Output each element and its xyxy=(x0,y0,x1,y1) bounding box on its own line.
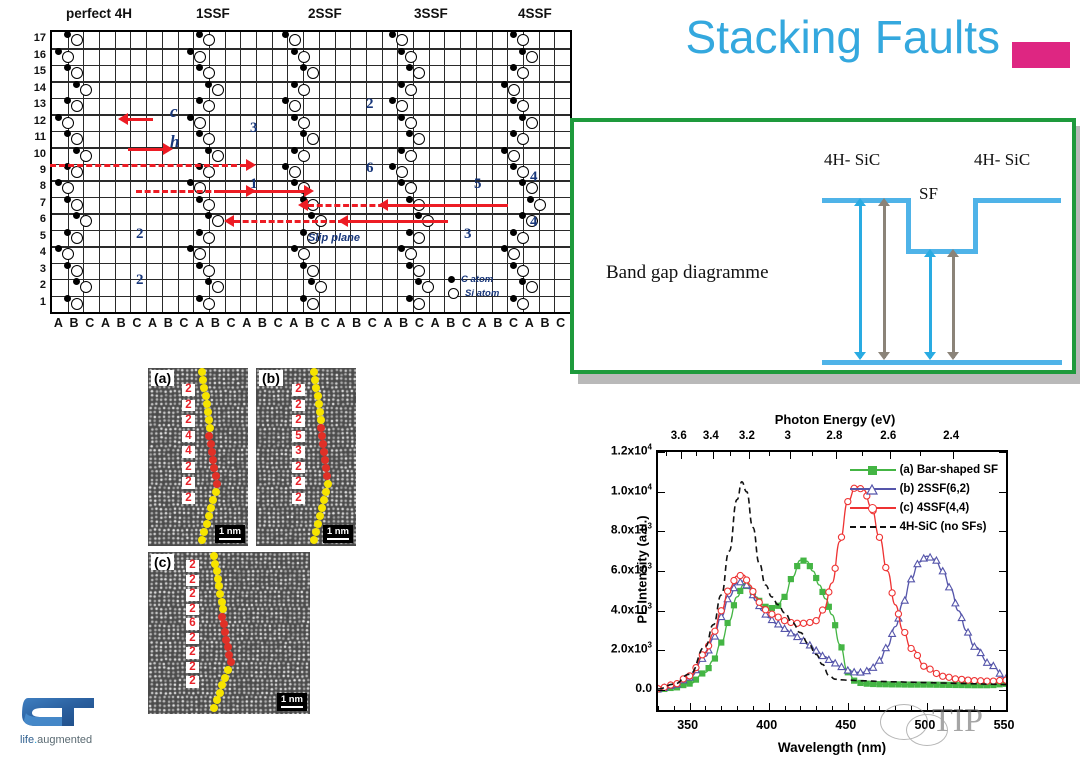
conduction-band-right xyxy=(973,198,1061,203)
lattice-row-number: 4 xyxy=(40,246,46,258)
lattice-gridline-vertical xyxy=(319,32,320,312)
chart-data-point xyxy=(718,608,724,614)
chart-data-point xyxy=(997,677,1003,683)
tem-stacking-number: 2 xyxy=(292,462,305,474)
lattice-c-atom xyxy=(196,229,203,236)
slip-plane-label: Slip plane xyxy=(308,232,360,244)
chart-x-tick-label: 400 xyxy=(756,718,777,732)
tem-stacking-number: 2 xyxy=(292,493,305,505)
lattice-stacking-label: A xyxy=(242,316,251,330)
chart-data-point xyxy=(800,620,806,626)
chart-x-minor-tick xyxy=(674,706,675,710)
chart-y-right-tick xyxy=(999,531,1006,532)
lattice-gridline-vertical xyxy=(240,32,241,312)
lattice-gridline-vertical xyxy=(460,32,461,312)
chart-y-tick xyxy=(658,690,665,691)
lattice-column-header: perfect 4H xyxy=(66,6,132,21)
lattice-segment-number: 3 xyxy=(250,120,258,137)
tem-stacking-number: 2 xyxy=(186,589,199,601)
chart-y-tick xyxy=(658,531,665,532)
lattice-si-atom xyxy=(212,215,224,227)
lattice-stacking-label: B xyxy=(211,316,220,330)
lattice-c-atom xyxy=(205,147,212,154)
lattice-row-number: 8 xyxy=(40,180,46,192)
chart-y-tick xyxy=(658,492,665,493)
chart-data-point xyxy=(781,594,787,600)
chart-data-point xyxy=(712,655,718,661)
lattice-c-atom xyxy=(519,278,526,285)
lattice-column-headers: perfect 4H1SSF2SSF3SSF4SSF xyxy=(18,6,570,28)
atom-type-legend: C atomSi atom xyxy=(448,272,499,300)
lattice-si-atom xyxy=(307,298,319,310)
chart-legend-item[interactable]: (a) Bar-shaped SF xyxy=(850,460,998,479)
lattice-c-atom xyxy=(510,130,517,137)
lattice-c-atom xyxy=(510,163,517,170)
tem-atom-normal xyxy=(314,392,322,400)
chart-data-point xyxy=(718,639,724,645)
lattice-gridline-vertical xyxy=(99,32,100,312)
lattice-si-atom xyxy=(194,248,206,260)
lattice-si-atom xyxy=(71,166,83,178)
chart-top-minor-tick xyxy=(890,452,891,456)
tem-atom-normal xyxy=(212,488,220,496)
chart-top-minor-tick xyxy=(713,452,714,456)
lattice-si-atom xyxy=(71,298,83,310)
tem-stacking-number: 2 xyxy=(186,676,199,688)
tem-panel-b-atom-chain xyxy=(308,368,334,546)
tem-atom-normal xyxy=(216,590,224,598)
chart-data-point xyxy=(762,607,768,613)
chart-data-point xyxy=(687,673,693,679)
tem-atom-normal xyxy=(312,528,320,536)
lattice-segment-number: 5 xyxy=(474,176,482,193)
lattice-stacking-label: B xyxy=(305,316,314,330)
lattice-gridline-horizontal xyxy=(52,131,570,132)
chart-top-minor-tick xyxy=(862,452,863,456)
lattice-si-atom xyxy=(62,117,74,129)
lattice-c-atom xyxy=(64,31,71,38)
lattice-si-atom xyxy=(71,67,83,79)
lattice-c-atom xyxy=(510,262,517,269)
tem-atom-normal xyxy=(213,567,221,575)
chart-x-minor-tick xyxy=(737,706,738,710)
chart-top-minor-tick xyxy=(681,452,682,456)
lattice-si-atom xyxy=(203,133,215,145)
tem-atom-normal xyxy=(316,408,324,416)
lattice-gridline-vertical xyxy=(429,32,430,312)
lattice-stacking-label: C xyxy=(556,316,565,330)
lattice-si-atom xyxy=(80,150,92,162)
chart-legend: (a) Bar-shaped SF(b) 2SSF(6,2)(c) 4SSF(4… xyxy=(850,460,998,536)
lattice-si-atom xyxy=(298,150,310,162)
lattice-si-atom xyxy=(289,34,301,46)
lattice-si-atom xyxy=(307,133,319,145)
chart-data-point xyxy=(959,676,965,682)
lattice-si-atom xyxy=(405,182,417,194)
chart-data-point xyxy=(946,674,952,680)
chart-data-point xyxy=(940,673,946,679)
chart-top-tick-label: 3 xyxy=(785,430,791,442)
lattice-si-atom xyxy=(203,199,215,211)
tem-panel-c: (c) 222262222 1 nm xyxy=(148,552,310,714)
lattice-si-atom xyxy=(517,100,529,112)
chart-data-point xyxy=(693,677,699,683)
lattice-si-atom xyxy=(212,150,224,162)
lattice-slip-arrow xyxy=(128,118,153,121)
lattice-c-atom xyxy=(73,147,80,154)
chart-y-tick xyxy=(658,452,665,453)
chart-x-minor-tick xyxy=(800,706,801,710)
lattice-slip-arrow xyxy=(388,204,508,207)
lattice-c-atom xyxy=(64,262,71,269)
tem-panel-b-label: (b) xyxy=(259,370,283,386)
tem-atom-normal xyxy=(314,520,322,528)
title-accent-bar xyxy=(1012,42,1070,68)
chart-data-point xyxy=(769,611,775,617)
chart-data-point xyxy=(699,670,705,676)
chart-data-point xyxy=(800,558,806,564)
chart-data-point xyxy=(737,572,743,578)
chart-data-point xyxy=(807,619,813,625)
lattice-si-atom xyxy=(517,67,529,79)
bandgap-arrow-bulk-gray-head-up xyxy=(878,198,890,206)
lattice-row-number: 10 xyxy=(34,148,46,160)
lattice-si-atom xyxy=(203,100,215,112)
chart-y-tick-label: 8.0x103 xyxy=(544,522,652,537)
tem-atom-normal xyxy=(324,480,332,488)
chart-data-point xyxy=(838,534,844,540)
lattice-si-atom xyxy=(307,265,319,277)
tem-atom-normal xyxy=(204,408,212,416)
tem-stacking-number: 6 xyxy=(186,618,199,630)
lattice-si-atom xyxy=(194,117,206,129)
chart-data-point xyxy=(977,649,984,655)
chart-top-tick-label: 3.6 xyxy=(671,430,687,442)
lattice-si-atom xyxy=(508,84,520,96)
chart-x-minor-tick xyxy=(753,706,754,710)
band-gap-right-region-label: 4H- SiC xyxy=(974,150,1030,170)
lattice-stacking-label: A xyxy=(525,316,534,330)
lattice-stacking-label: A xyxy=(431,316,440,330)
lattice-c-atom xyxy=(196,262,203,269)
lattice-stacking-label: C xyxy=(321,316,330,330)
tem-stacking-number: 2 xyxy=(182,462,195,474)
lattice-si-atom xyxy=(396,100,408,112)
tem-atom-normal xyxy=(310,536,318,544)
chart-data-point xyxy=(781,618,787,624)
tem-stacking-number: 2 xyxy=(186,647,199,659)
conduction-band-well-left-wall xyxy=(906,198,911,254)
tem-panel-a: (a) 22244222 1 nm xyxy=(148,368,248,546)
lattice-c-atom xyxy=(196,64,203,71)
tem-atom-normal xyxy=(205,416,213,424)
chart-x-minor-tick xyxy=(705,706,706,710)
chart-top-minor-tick xyxy=(812,452,813,456)
chart-data-point xyxy=(958,614,965,620)
band-gap-left-region-label: 4H- SiC xyxy=(824,150,880,170)
tem-stacking-number: 2 xyxy=(292,477,305,489)
tem-stacking-number: 4 xyxy=(182,431,195,443)
lattice-si-atom xyxy=(508,248,520,260)
lattice-si-atom xyxy=(298,84,310,96)
chart-data-point xyxy=(712,628,718,634)
chart-data-point xyxy=(731,577,737,583)
tem-atom-fault xyxy=(224,643,232,651)
lattice-gridline-horizontal xyxy=(52,114,570,115)
chart-x-minor-tick xyxy=(785,706,786,710)
lattice-c-atom xyxy=(510,31,517,38)
lattice-si-atom xyxy=(405,248,417,260)
tem-panel-b: (b) 22253222 1 nm xyxy=(256,368,356,546)
tem-atom-normal xyxy=(205,512,213,520)
lattice-gridline-vertical xyxy=(256,32,257,312)
tem-atom-normal xyxy=(320,496,328,504)
tem-atom-normal xyxy=(218,681,226,689)
tem-panel-c-scale-bar: 1 nm xyxy=(277,693,307,711)
conduction-band-well-right-wall xyxy=(973,198,978,254)
lattice-c-atom xyxy=(300,229,307,236)
lattice-si-atom xyxy=(71,232,83,244)
chart-data-point xyxy=(927,554,934,560)
chart-y-tick xyxy=(658,611,665,612)
tem-stacking-number: 2 xyxy=(182,493,195,505)
lattice-c-atom xyxy=(196,196,203,203)
page-title: Stacking Faults xyxy=(686,10,1000,64)
lattice-stacking-label: C xyxy=(274,316,283,330)
lattice-slip-arrowhead xyxy=(224,215,234,227)
lattice-slip-arrowhead xyxy=(304,185,314,197)
lattice-gridline-vertical xyxy=(225,32,226,312)
tem-panel-a-numbers: 22244222 xyxy=(182,384,195,504)
lattice-gridline-vertical xyxy=(287,32,288,312)
lattice-stacking-label: B xyxy=(258,316,267,330)
lattice-gridline-vertical xyxy=(476,32,477,312)
lattice-c-atom xyxy=(389,31,396,38)
chart-y-right-tick xyxy=(999,492,1006,493)
lattice-slip-arrowhead xyxy=(338,215,348,227)
chart-x-minor-tick xyxy=(864,706,865,710)
lattice-c-atom xyxy=(73,81,80,88)
lattice-stacking-label: C xyxy=(85,316,94,330)
lattice-stacking-label: B xyxy=(117,316,126,330)
tem-stacking-number: 2 xyxy=(186,560,199,572)
chart-data-point xyxy=(750,588,756,594)
tem-stacking-number: 2 xyxy=(182,415,195,427)
lattice-c-atom xyxy=(55,245,62,252)
band-gap-fault-label: SF xyxy=(919,184,938,204)
tem-atom-fault xyxy=(321,456,329,464)
lattice-slip-arrowhead xyxy=(378,199,388,211)
chart-data-point xyxy=(933,670,939,676)
tem-atom-normal xyxy=(203,400,211,408)
lattice-si-atom xyxy=(203,265,215,277)
lattice-si-atom xyxy=(307,67,319,79)
lattice-c-atom xyxy=(73,212,80,219)
chart-x-tick xyxy=(848,703,849,710)
bandgap-arrow-bulk-blue-head-up xyxy=(854,198,866,206)
chart-top-axis-title: Photon Energy (eV) xyxy=(600,412,1070,427)
lattice-stacking-label: A xyxy=(101,316,110,330)
chart-legend-item[interactable]: (b) 2SSF(6,2) xyxy=(850,479,998,498)
lattice-gridline-vertical xyxy=(350,32,351,312)
lattice-c-atom xyxy=(519,179,526,186)
lattice-segment-number: 2 xyxy=(366,96,374,113)
lattice-gridline-horizontal xyxy=(52,246,570,247)
lattice-gridline-horizontal xyxy=(52,263,570,264)
tem-atom-fault xyxy=(319,440,327,448)
lattice-si-atom xyxy=(413,67,425,79)
chart-top-minor-tick xyxy=(769,452,770,456)
lattice-row-number: 14 xyxy=(34,82,46,94)
tem-stacking-number: 2 xyxy=(182,384,195,396)
lattice-c-atom xyxy=(415,212,422,219)
tem-panel-a-scale-bar: 1 nm xyxy=(215,525,245,543)
lattice-row-number: 6 xyxy=(40,213,46,225)
lattice-stacking-label: A xyxy=(336,316,345,330)
chart-y-right-tick xyxy=(999,571,1006,572)
chart-top-minor-tick xyxy=(749,452,750,456)
tem-stacking-number: 2 xyxy=(292,415,305,427)
lattice-c-atom xyxy=(55,114,62,121)
lattice-slip-arrowhead xyxy=(118,113,128,125)
lattice-stacking-label: A xyxy=(383,316,392,330)
tem-stacking-number: 2 xyxy=(186,604,199,616)
tem-atom-fault xyxy=(322,464,330,472)
tem-stacking-number: 2 xyxy=(182,477,195,489)
tem-atom-normal xyxy=(310,368,318,376)
lattice-stacking-label: A xyxy=(148,316,157,330)
tem-atom-normal xyxy=(219,605,227,613)
lattice-si-atom xyxy=(517,34,529,46)
lattice-slip-arrowhead xyxy=(163,143,173,155)
lattice-c-atom xyxy=(73,278,80,285)
tem-atom-fault xyxy=(221,628,229,636)
lattice-c-atom xyxy=(196,31,203,38)
bandgap-arrow-bulk-blue xyxy=(859,204,862,358)
lattice-segment-number: 2 xyxy=(136,226,144,243)
lattice-c-atom xyxy=(55,48,62,55)
st-tagline-augmented: augmented xyxy=(37,734,92,746)
lattice-si-atom xyxy=(80,281,92,293)
conduction-band-left xyxy=(822,198,910,203)
lattice-c-atom xyxy=(291,48,298,55)
chart-legend-label: 4H-SiC (no SFs) xyxy=(900,521,987,533)
chart-data-point xyxy=(914,652,920,658)
lattice-c-atom xyxy=(205,81,212,88)
lattice-stacking-sequence-labels: ABCABCABCABCABCABCABCABCABCABCABC xyxy=(50,316,568,334)
lattice-si-atom xyxy=(413,232,425,244)
lattice-stacking-label: B xyxy=(70,316,79,330)
lattice-gridline-vertical xyxy=(539,32,540,312)
band-gap-border-box: Band gap diagramme 4H- SiC 4H- SiC SF xyxy=(570,118,1076,374)
lattice-c-atom xyxy=(187,48,194,55)
lattice-segment-number: 6 xyxy=(366,160,374,177)
st-tagline-life: life xyxy=(20,734,34,746)
lattice-stacking-label: A xyxy=(289,316,298,330)
lattice-si-atom xyxy=(298,117,310,129)
lattice-c-atom xyxy=(501,147,508,154)
lattice-stacking-label: C xyxy=(132,316,141,330)
lattice-column-header: 4SSF xyxy=(518,6,552,21)
lattice-slip-arrow xyxy=(128,148,163,151)
lattice-slip-arrowhead xyxy=(246,159,256,171)
chart-data-point xyxy=(794,563,800,569)
lattice-c-atom xyxy=(64,295,71,302)
chart-x-tick xyxy=(690,703,691,710)
lattice-si-atom xyxy=(71,34,83,46)
chart-top-minor-tick xyxy=(836,452,837,456)
tem-atom-normal xyxy=(209,496,217,504)
tem-atom-normal xyxy=(311,376,319,384)
lattice-si-atom xyxy=(289,166,301,178)
lattice-column-header: 2SSF xyxy=(308,6,342,21)
tem-atom-normal xyxy=(207,504,215,512)
lattice-gridline-vertical xyxy=(146,32,147,312)
tem-atom-normal xyxy=(210,552,218,560)
lattice-stacking-label: C xyxy=(462,316,471,330)
chart-legend-item[interactable]: 4H-SiC (no SFs) xyxy=(850,517,998,536)
bandgap-arrow-bulk-blue-head-down xyxy=(854,352,866,360)
tem-stacking-number: 2 xyxy=(292,400,305,412)
lattice-stacking-label: B xyxy=(540,316,549,330)
lattice-si-atom xyxy=(203,166,215,178)
chart-data-point xyxy=(819,607,825,613)
tem-panel-a-label: (a) xyxy=(151,370,174,386)
lattice-gridline-vertical xyxy=(492,32,493,312)
lattice-c-atom xyxy=(187,114,194,121)
tem-atom-normal xyxy=(202,392,210,400)
chart-y-right-tick xyxy=(999,650,1006,651)
lattice-c-atom xyxy=(291,179,298,186)
chart-legend-item[interactable]: (c) 4SSF(4,4) xyxy=(850,498,998,517)
tem-atom-fault xyxy=(209,456,217,464)
lattice-si-atom xyxy=(405,51,417,63)
lattice-c-atom xyxy=(291,147,298,154)
lattice-c-atom xyxy=(398,245,405,252)
lattice-c-atom xyxy=(64,64,71,71)
lattice-gridline-vertical xyxy=(382,32,383,312)
lattice-stacking-label: B xyxy=(399,316,408,330)
lattice-c-atom xyxy=(501,81,508,88)
watermark: TIP xyxy=(880,700,1070,760)
st-logo-mark xyxy=(18,690,104,732)
lattice-stacking-label: A xyxy=(54,316,63,330)
lattice-si-atom xyxy=(203,34,215,46)
lattice-gridline-vertical xyxy=(303,32,304,312)
chart-top-tick-label: 2.8 xyxy=(826,430,842,442)
lattice-si-atom xyxy=(62,182,74,194)
chart-data-point xyxy=(725,588,731,594)
chart-data-point xyxy=(788,619,794,625)
lattice-stacking-label: A xyxy=(478,316,487,330)
tem-stacking-number: 3 xyxy=(292,446,305,458)
tem-panel-a-atom-chain xyxy=(196,368,224,546)
chart-data-point xyxy=(687,681,693,687)
tem-atom-fault xyxy=(317,424,325,432)
chart-data-point xyxy=(902,629,908,635)
lattice-si-atom xyxy=(71,265,83,277)
lattice-gridline-vertical xyxy=(83,32,84,312)
lattice-gridline-horizontal xyxy=(52,81,570,82)
lattice-c-atom xyxy=(300,130,307,137)
lattice-gridline-vertical xyxy=(554,32,555,312)
lattice-stacking-label: C xyxy=(227,316,236,330)
chart-data-point xyxy=(908,645,914,651)
lattice-si-atom xyxy=(203,67,215,79)
tem-stacking-number: 2 xyxy=(186,633,199,645)
bandgap-arrow-sf-blue xyxy=(929,255,932,358)
chart-top-minor-tick xyxy=(696,452,697,456)
